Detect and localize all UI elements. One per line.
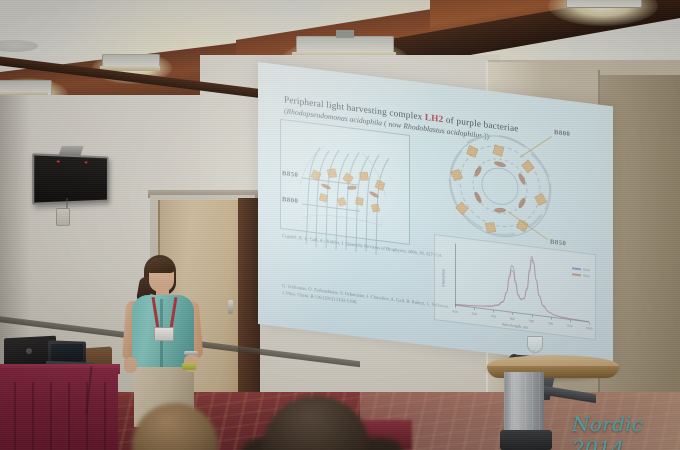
photo-watermark: Nordic 2014 (572, 412, 680, 450)
table-skirt-pleat (14, 382, 16, 450)
spectrum-plot-area (455, 244, 589, 323)
spectrum-tick-label: 1000 (586, 326, 593, 331)
presenter-left-hand (124, 357, 137, 373)
spectrum-legend: B800B850 (572, 266, 590, 280)
spectrum-tick (474, 308, 475, 310)
spectrum-tick (570, 320, 571, 322)
spectrum-x-axis-label: Wavelength, nm (502, 321, 528, 329)
presenter-name-badge (154, 327, 174, 341)
tv-power-led (57, 160, 60, 162)
spectrum-tick-label: 750 (491, 314, 496, 319)
presenter (110, 255, 215, 425)
laptop-secondary-screen (51, 344, 83, 361)
laptop-logo (26, 348, 32, 354)
legend-label: B850 (583, 274, 590, 279)
spectrum-tick (589, 322, 590, 324)
slide-citation-2: G. Trinkunas, O. Zerlauskiene, V. Urboni… (282, 283, 452, 318)
wall-display-screen (32, 153, 108, 205)
door-handle[interactable] (228, 300, 233, 314)
presenter-hair-front (146, 258, 175, 273)
spectrum-tick-label: 950 (567, 324, 572, 329)
spectrum-curves (455, 244, 589, 323)
spectrum-legend-item: B850 (572, 272, 590, 278)
projection-area: Peripheral light harvesting complex LH2 … (258, 62, 620, 362)
spectrum-tick-label: 800 (510, 316, 515, 321)
door-opening-shadow (238, 198, 260, 400)
legend-color-swatch (572, 274, 581, 276)
wall-outlet (56, 208, 70, 226)
spectrum-legend-item: B800 (572, 266, 590, 272)
projector-screen: Peripheral light harvesting complex LH2 … (258, 62, 613, 368)
legend-color-swatch (572, 268, 581, 270)
spectrum-series-B800 (455, 250, 589, 322)
spectrum-tick-label: 650 (452, 309, 457, 314)
spectrum-y-axis (455, 244, 456, 306)
table-skirt-pleat (68, 382, 70, 450)
spectrum-tick-label: 700 (472, 312, 477, 317)
table-skirt-pleat (32, 382, 34, 450)
spectrum-y-axis-label: Absorption (441, 269, 446, 288)
spectrum-tick (455, 306, 456, 308)
presentation-clicker[interactable] (182, 363, 196, 370)
spectrum-tick (532, 315, 533, 317)
spectrum-series-B850 (455, 247, 589, 322)
podium-base (500, 430, 552, 450)
spectrum-tick-label: 850 (529, 319, 534, 324)
av-table-skirt (0, 368, 118, 450)
tv-status-led (85, 161, 88, 163)
spectrum-tick (493, 310, 494, 312)
lecture-hall-photo: Peripheral light harvesting complex LH2 … (0, 0, 680, 450)
legend-label: B800 (583, 268, 590, 273)
wine-glass-bowl[interactable] (527, 336, 543, 353)
spectrum-tick (512, 313, 513, 315)
spectrum-tick-label: 900 (548, 321, 553, 326)
spectrum-tick (551, 318, 552, 320)
table-skirt-pleat (104, 382, 106, 450)
table-skirt-pleat (50, 382, 52, 450)
